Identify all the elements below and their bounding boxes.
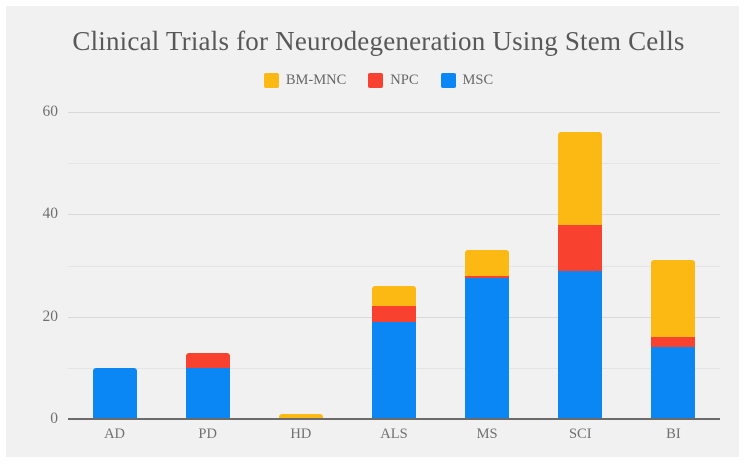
x-axis: ADPDHDALSMSSCIBI [6,6,745,469]
x-tick-label-hd: HD [261,426,341,443]
x-tick-label-ms: MS [447,426,527,443]
x-tick-label-bi: BI [633,426,713,443]
x-tick-label-sci: SCI [540,426,620,443]
x-tick-label-als: ALS [354,426,434,443]
chart-container: Clinical Trials for Neurodegeneration Us… [0,0,745,463]
x-tick-label-ad: AD [75,426,155,443]
x-tick-label-pd: PD [168,426,248,443]
